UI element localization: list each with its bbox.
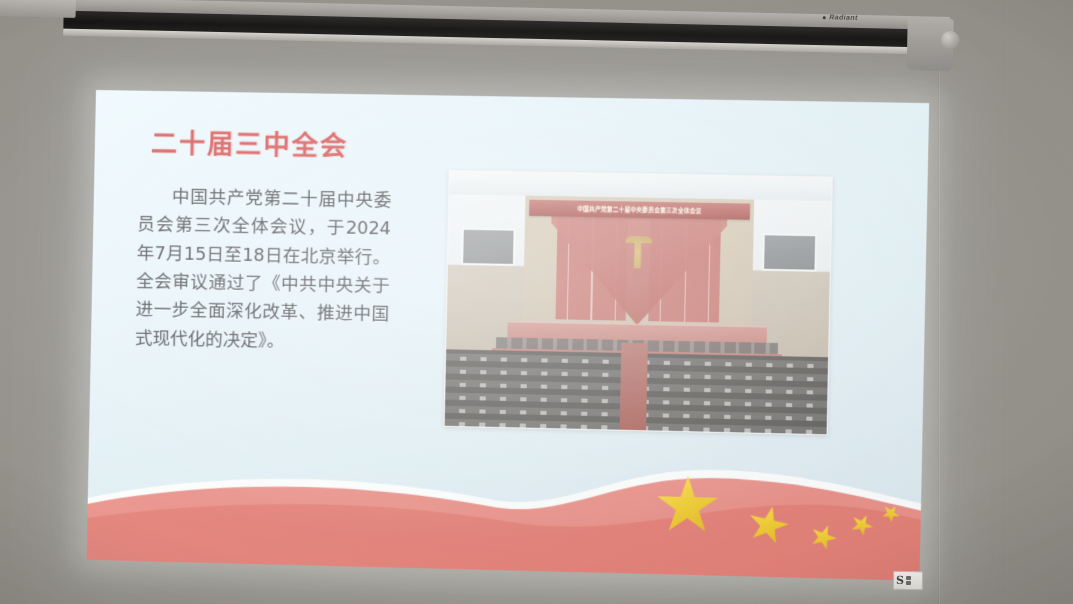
wall-seam-far-right <box>1006 0 1008 604</box>
slide-body-text: 中国共产党第二十届中央委员会第三次全体会议，于2024年7月15日至18日在北京… <box>135 183 392 358</box>
casing-left-endcap <box>0 0 76 18</box>
wall-plate-sticker: S <box>893 571 923 590</box>
star-3 <box>806 521 840 554</box>
star-5 <box>878 501 903 525</box>
screenshot-root: Radiant 二十届三中全会 中国共产党第二十届中央委员会第三次全体会议，于2… <box>0 0 1073 604</box>
presentation-slide[interactable]: 二十届三中全会 中国共产党第二十届中央委员会第三次全体会议，于2024年7月15… <box>87 90 930 581</box>
slide-decor-stars <box>87 440 922 581</box>
brand-dot-icon <box>822 16 825 19</box>
projection-area: 二十届三中全会 中国共产党第二十届中央委员会第三次全体会议，于2024年7月15… <box>96 90 936 572</box>
conference-hall-photo: 中国共产党第二十届中央委员会第三次全体会议 <box>444 170 833 435</box>
hall-side-screen-right <box>762 233 817 271</box>
hall-side-screen-left <box>461 227 515 265</box>
star-4 <box>847 510 877 539</box>
wall-plate-marks-icon <box>906 576 911 585</box>
slide-title: 二十届三中全会 <box>151 123 349 163</box>
star-2 <box>744 502 793 549</box>
projector-brand-logo: Radiant <box>822 14 858 22</box>
hall-center-aisle <box>620 343 648 430</box>
wall-plate-glyph: S <box>896 575 904 586</box>
wall-seam-right <box>938 36 941 604</box>
star-1 <box>655 475 720 537</box>
brand-label: Radiant <box>829 14 858 22</box>
hall-banner-text: 中国共产党第二十届中央委员会第三次全体会议 <box>577 204 701 215</box>
